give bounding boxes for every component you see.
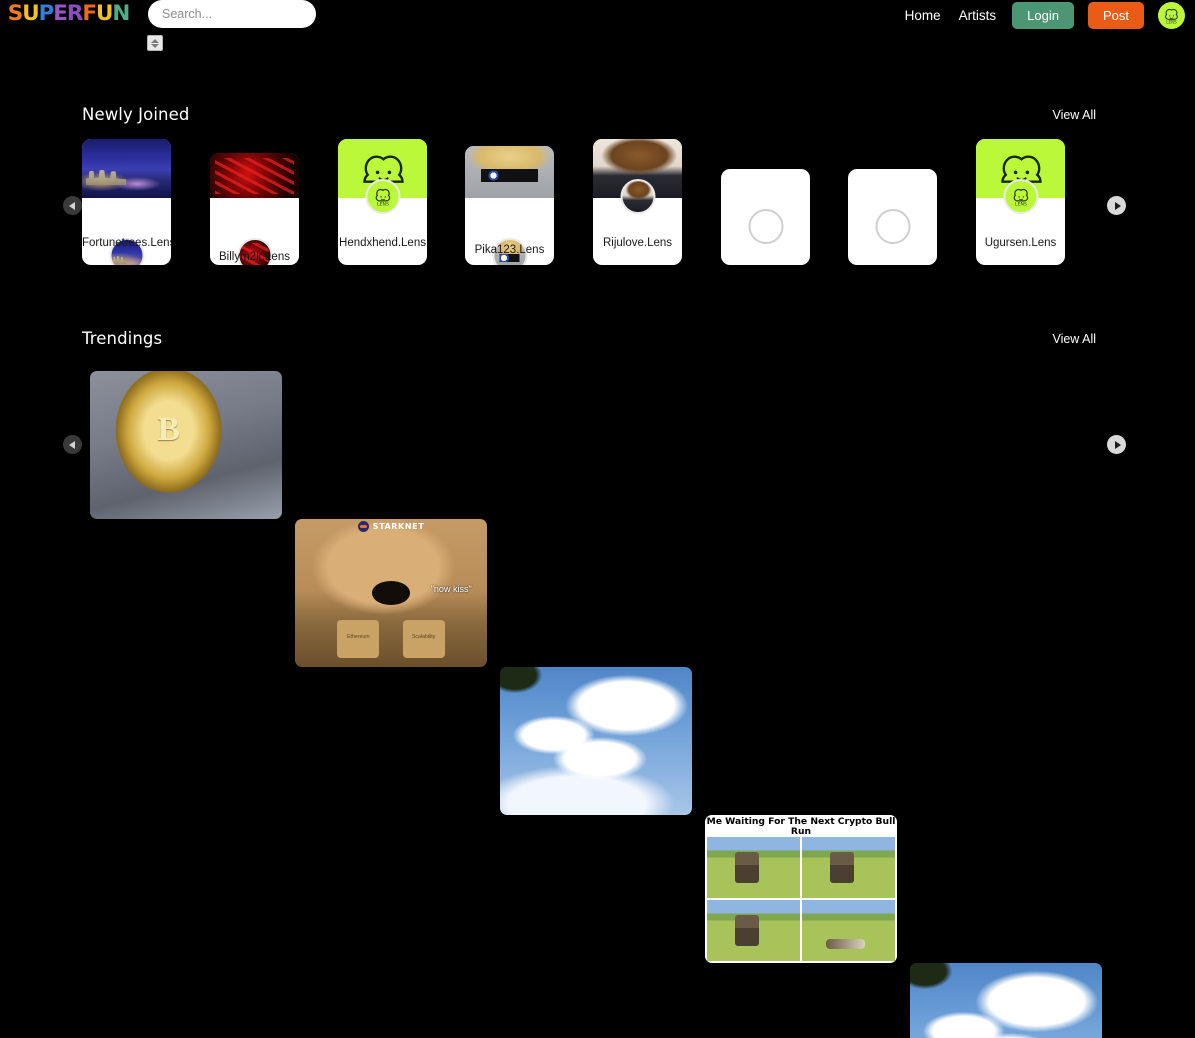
profile-name: Rijulove.Lens bbox=[593, 237, 682, 249]
profile-avatar: LENS bbox=[365, 179, 400, 214]
profile-card[interactable]: Fortunetrees.Lens bbox=[82, 139, 171, 265]
profile-name: Hendxhend.Lens bbox=[338, 237, 427, 249]
starknet-dot-icon bbox=[358, 521, 369, 532]
profile-card[interactable]: Billym2k.Lens bbox=[210, 153, 299, 265]
post-button[interactable]: Post bbox=[1088, 2, 1144, 29]
profile-name: Billym2k.Lens bbox=[210, 251, 299, 263]
doge-label-left: Ethereum bbox=[337, 634, 379, 640]
profile-avatar bbox=[875, 209, 910, 244]
meme-panel-2 bbox=[802, 837, 895, 898]
newly-joined-carousel[interactable]: Fortunetrees.LensBillym2k.Lens LENS Hend… bbox=[82, 139, 1096, 269]
profile-card[interactable]: Alikmahmudi.Lens bbox=[848, 169, 937, 265]
nav-link-home[interactable]: Home bbox=[903, 6, 943, 25]
svg-text:LENS: LENS bbox=[377, 201, 389, 207]
profile-name: Ugursen.Lens bbox=[976, 237, 1065, 249]
profile-card[interactable]: Pika123.Lens bbox=[465, 146, 554, 265]
login-button[interactable]: Login bbox=[1012, 2, 1074, 29]
svg-text:LENS: LENS bbox=[1166, 19, 1177, 24]
newly-joined-header: Newly Joined View All bbox=[82, 105, 1096, 124]
lens-avatar-icon[interactable]: LENS bbox=[1158, 2, 1185, 29]
trending-card[interactable] bbox=[90, 371, 282, 519]
profile-name: Pika123.Lens bbox=[465, 244, 554, 256]
chevron-right-icon-newly-joined[interactable] bbox=[1107, 196, 1126, 215]
profile-avatar: LENS bbox=[1003, 179, 1038, 214]
profile-card[interactable]: Jacklee886.Lens bbox=[721, 169, 810, 265]
svg-text:LENS: LENS bbox=[1015, 201, 1027, 207]
profile-cover-image bbox=[210, 153, 299, 198]
profile-cover-image bbox=[465, 146, 554, 198]
section-title-trendings: Trendings bbox=[82, 329, 162, 348]
meme-panel-1 bbox=[707, 837, 800, 898]
trending-card[interactable]: STARKNET"now kiss"EthereumScalability bbox=[295, 519, 487, 667]
top-header: SUPERFUN Home Artists Login Post LENS bbox=[0, 0, 1195, 33]
starknet-logo: STARKNET bbox=[295, 519, 487, 534]
meme-text: "now kiss" bbox=[431, 584, 472, 594]
trending-card[interactable]: Me Waiting For The Next Crypto Bull Run bbox=[705, 815, 897, 963]
logo-letter-7: N bbox=[112, 1, 129, 25]
stepper-updown-icon[interactable] bbox=[147, 35, 163, 51]
trending-card[interactable] bbox=[500, 667, 692, 815]
logo-letter-3: E bbox=[53, 1, 67, 25]
meme-panel-grid bbox=[707, 837, 895, 961]
logo-letter-1: U bbox=[22, 1, 38, 25]
view-all-newly-joined[interactable]: View All bbox=[1052, 108, 1096, 122]
logo-letter-6: U bbox=[96, 1, 112, 25]
logo-letter-5: F bbox=[82, 1, 96, 25]
doge-label-right: Scalability bbox=[403, 634, 445, 640]
trendings-header: Trendings View All bbox=[82, 329, 1096, 348]
profile-card[interactable]: LENS Ugursen.Lens bbox=[976, 139, 1065, 265]
site-logo[interactable]: SUPERFUN bbox=[8, 1, 130, 25]
section-title-newly-joined: Newly Joined bbox=[82, 105, 189, 124]
profile-avatar bbox=[620, 179, 655, 214]
profile-avatar bbox=[748, 209, 783, 244]
primary-nav: Home Artists Login Post LENS bbox=[903, 0, 1185, 30]
chevron-right-icon-trendings[interactable] bbox=[1107, 435, 1126, 454]
doge-figure-right: Scalability bbox=[403, 620, 445, 658]
profile-card[interactable]: LENS Hendxhend.Lens bbox=[338, 139, 427, 265]
meme-panel-4 bbox=[802, 900, 895, 961]
nav-link-artists[interactable]: Artists bbox=[957, 6, 999, 25]
search-container bbox=[148, 0, 316, 28]
logo-letter-4: R bbox=[67, 1, 82, 25]
starknet-label: STARKNET bbox=[373, 522, 425, 531]
logo-letter-0: S bbox=[8, 1, 22, 25]
profile-cover-image bbox=[82, 139, 171, 198]
view-all-trendings[interactable]: View All bbox=[1052, 332, 1096, 346]
search-input[interactable] bbox=[148, 0, 316, 28]
chevron-left-icon-trendings[interactable] bbox=[63, 435, 82, 454]
logo-letter-2: P bbox=[39, 1, 54, 25]
profile-card[interactable]: Rijulove.Lens bbox=[593, 139, 682, 265]
meme-panel-3 bbox=[707, 900, 800, 961]
trendings-carousel[interactable]: STARKNET"now kiss"EthereumScalabilityMe … bbox=[90, 371, 1100, 519]
profile-name: Fortunetrees.Lens bbox=[82, 237, 171, 249]
chevron-left-icon-newly-joined[interactable] bbox=[63, 196, 82, 215]
meme-caption: Me Waiting For The Next Crypto Bull Run bbox=[705, 817, 897, 837]
doge-figure-left: Ethereum bbox=[337, 620, 379, 658]
trending-card[interactable] bbox=[910, 963, 1102, 1038]
